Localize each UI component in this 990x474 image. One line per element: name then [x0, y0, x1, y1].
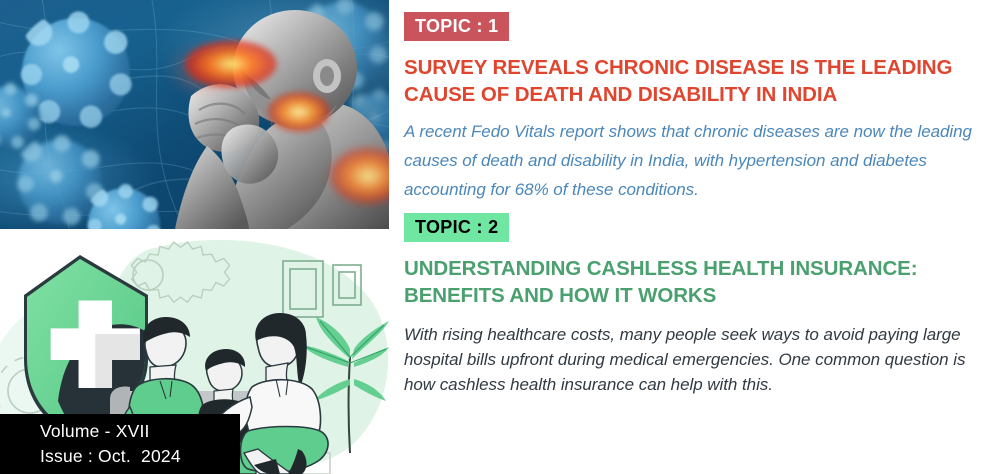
topic-1-heading: SURVEY REVEALS CHRONIC DISEASE IS THE LE… [404, 54, 977, 108]
topic-1-body: A recent Fedo Vitals report shows that c… [404, 117, 977, 204]
text-column: TOPIC : 1 SURVEY REVEALS CHRONIC DISEASE… [389, 0, 990, 474]
topic-2-block: TOPIC : 2 UNDERSTANDING CASHLESS HEALTH … [404, 213, 977, 397]
volume-issue-badge: Volume - XVII Issue : Oct. 2024 [0, 414, 240, 474]
topic-1-image [0, 0, 389, 229]
topic-2-body: With rising healthcare costs, many peopl… [404, 322, 977, 397]
topic-1-badge: TOPIC : 1 [404, 12, 509, 41]
virus-particle [0, 86, 40, 148]
issue-label: Issue : Oct. 2024 [40, 444, 240, 469]
topic-1-block: TOPIC : 1 SURVEY REVEALS CHRONIC DISEASE… [404, 12, 977, 204]
image-column: Volume - XVII Issue : Oct. 2024 [0, 0, 389, 474]
newsletter-page: Volume - XVII Issue : Oct. 2024 TOPIC : … [0, 0, 990, 474]
topic-2-heading: UNDERSTANDING CASHLESS HEALTH INSURANCE:… [404, 255, 977, 309]
human-figure-illustration [115, 0, 389, 229]
volume-label: Volume - XVII [40, 419, 240, 444]
topic-2-badge: TOPIC : 2 [404, 213, 509, 242]
